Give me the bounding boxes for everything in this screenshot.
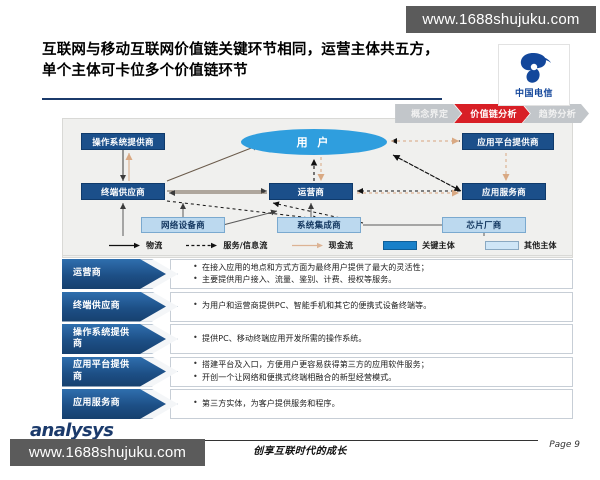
legend-label-other-entity: 其他主体 (524, 240, 557, 251)
slide-canvas: www.1688shujuku.com 互联网与移动互联网价值链关键环节相同，运… (0, 0, 600, 480)
china-telecom-mark-icon (513, 51, 555, 85)
legend-label-cash-flow: 现金流 (329, 240, 354, 251)
legend-item-logistics: 物流 (109, 240, 162, 251)
role-row-os-provider: 操作系统提供商 提供PC、移动终端应用开发所需的操作系统。 (62, 324, 573, 354)
legend-item-cash-flow: 现金流 (292, 240, 354, 251)
diagram-node-network-equipment[interactable]: 网络设备商 (141, 217, 225, 233)
page-title-line2: 单个主体可卡位多个价值链环节 (42, 61, 462, 82)
diagram-legend: 物流 服务/信息流 现金流 关键主体 其他主体 (62, 236, 573, 256)
china-telecom-logo-text: 中国电信 (515, 86, 553, 99)
role-label-app-service-provider: 应用服务商 (62, 398, 120, 409)
role-row-platform-provider: 应用平台提供商 搭建平台及入口，方便用户更容易获得第三方的应用软件服务； 开创一… (62, 357, 573, 387)
role-label-terminal-supplier: 终端供应商 (62, 301, 120, 312)
key-entity-swatch (383, 241, 417, 250)
diagram-node-system-integrator[interactable]: 系统集成商 (277, 217, 361, 233)
role-bullet: 主要提供用户接入、流量、鉴别、计费、授权等服务。 (193, 274, 566, 286)
legend-label-key-entity: 关键主体 (422, 240, 455, 251)
role-bullet: 提供PC、移动终端应用开发所需的操作系统。 (193, 333, 566, 345)
legend-label-logistics: 物流 (146, 240, 162, 251)
legend-label-service-info: 服务/信息流 (223, 240, 267, 251)
diagram-node-chip-maker[interactable]: 芯片厂商 (442, 217, 526, 233)
solid-arrow-icon (109, 242, 141, 249)
role-body-os-provider: 提供PC、移动终端应用开发所需的操作系统。 (170, 324, 573, 354)
legend-item-key-entity: 关键主体 (383, 240, 455, 251)
analysys-logo-word: analysys (30, 422, 150, 440)
tab-concept[interactable]: 概念界定 (395, 104, 461, 123)
role-row-app-service-provider: 应用服务商 第三方实体，为客户提供服务和程序。 (62, 389, 573, 419)
role-body-operator: 在接入应用的地点和方式方面为最终用户提供了最大的灵活性； 主要提供用户接入、流量… (170, 259, 573, 289)
role-label-operator: 运营商 (62, 268, 101, 279)
diagram-node-platform-provider[interactable]: 应用平台提供商 (462, 133, 554, 150)
page-number: Page 9 (549, 440, 580, 450)
watermark-bottom: www.1688shujuku.com (10, 439, 205, 466)
diagram-node-user[interactable]: 用 户 (241, 129, 387, 155)
role-bullet: 第三方实体，为客户提供服务和程序。 (193, 398, 566, 410)
role-label-os-provider: 操作系统提供商 (62, 328, 136, 351)
china-telecom-logo: 中国电信 (498, 44, 570, 106)
diagram-node-app-service[interactable]: 应用服务商 (462, 183, 546, 200)
legend-item-service-info: 服务/信息流 (186, 240, 267, 251)
diagram-node-operator[interactable]: 运营商 (269, 183, 353, 200)
role-body-terminal-supplier: 为用户和运营商提供PC、智能手机和其它的便携式设备终端等。 (170, 292, 573, 322)
role-bullet: 在接入应用的地点和方式方面为最终用户提供了最大的灵活性； (193, 262, 566, 274)
tab-trend-analysis[interactable]: 趋势分析 (523, 104, 589, 123)
role-bullet: 开创一个让网络和便携式终端相融合的新型经营模式。 (193, 372, 566, 384)
legend-item-other-entity: 其他主体 (485, 240, 557, 251)
diagram-node-os-provider[interactable]: 操作系统提供商 (81, 133, 165, 150)
role-body-platform-provider: 搭建平台及入口，方便用户更容易获得第三方的应用软件服务； 开创一个让网络和便携式… (170, 357, 573, 387)
other-entity-swatch (485, 241, 519, 250)
watermark-top: www.1688shujuku.com (406, 6, 596, 33)
role-body-app-service-provider: 第三方实体，为客户提供服务和程序。 (170, 389, 573, 419)
role-rows: 运营商 在接入应用的地点和方式方面为最终用户提供了最大的灵活性； 主要提供用户接… (62, 259, 573, 422)
tab-value-chain-analysis[interactable]: 价值链分析 (454, 104, 530, 123)
breadcrumb-tabs: 概念界定 价值链分析 趋势分析 (395, 104, 582, 123)
role-row-terminal-supplier: 终端供应商 为用户和运营商提供PC、智能手机和其它的便携式设备终端等。 (62, 292, 573, 322)
role-row-operator: 运营商 在接入应用的地点和方式方面为最终用户提供了最大的灵活性； 主要提供用户接… (62, 259, 573, 289)
dashed-arrow-icon (186, 242, 218, 249)
role-bullet: 为用户和运营商提供PC、智能手机和其它的便携式设备终端等。 (193, 300, 566, 312)
page-title-line1: 互联网与移动互联网价值链关键环节相同，运营主体共五方， (42, 40, 462, 61)
title-divider (42, 98, 442, 100)
role-label-platform-provider: 应用平台提供商 (62, 360, 136, 383)
diagram-node-terminal-supplier[interactable]: 终端供应商 (81, 183, 165, 200)
page-title: 互联网与移动互联网价值链关键环节相同，运营主体共五方， 单个主体可卡位多个价值链… (42, 40, 462, 82)
role-bullet: 搭建平台及入口，方便用户更容易获得第三方的应用软件服务； (193, 359, 566, 371)
cash-arrow-icon (292, 242, 324, 249)
